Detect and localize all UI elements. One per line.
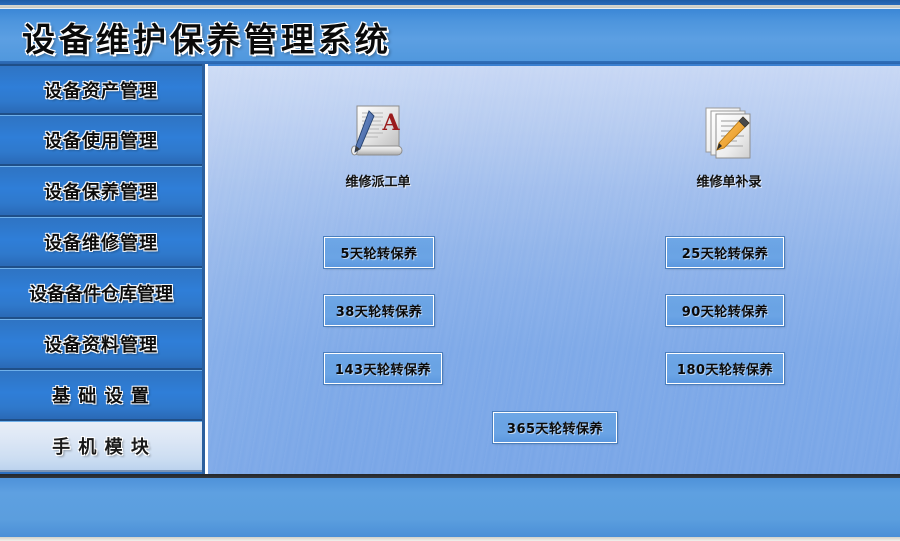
button-rotation-5-days[interactable]: 5天轮转保养 [324, 237, 434, 268]
status-bar-body [0, 478, 900, 537]
sidebar-item-label: 设备备件仓库管理 [29, 280, 173, 306]
sidebar-item-mobile-module[interactable]: 手 机 模 块 [0, 421, 202, 472]
button-label: 365天轮转保养 [507, 418, 603, 437]
window-chrome-bar [0, 0, 900, 8]
svg-text:A: A [381, 110, 400, 136]
main-content-area: A 维修派工单 [208, 64, 900, 474]
icon-tile-repair-form-entry[interactable]: 维修单补录 [669, 99, 789, 190]
content-top-divider [208, 64, 900, 66]
icon-tile-repair-dispatch-order[interactable]: A 维修派工单 [318, 99, 438, 190]
sidebar-item-usage-management[interactable]: 设备使用管理 [0, 115, 202, 166]
sidebar-item-label: 基 础 设 置 [52, 382, 150, 408]
button-label: 90天轮转保养 [682, 301, 769, 320]
status-bar [0, 474, 900, 541]
button-rotation-180-days[interactable]: 180天轮转保养 [666, 353, 784, 384]
button-rotation-25-days[interactable]: 25天轮转保养 [666, 237, 784, 268]
application-window: 设备维护保养管理系统 设备资产管理 设备使用管理 设备保养管理 设备维修管理 设… [0, 0, 900, 541]
documents-pencil-icon [696, 99, 762, 165]
sidebar-item-document-management[interactable]: 设备资料管理 [0, 319, 202, 370]
sidebar-item-maintenance-upkeep[interactable]: 设备保养管理 [0, 166, 202, 217]
button-label: 180天轮转保养 [677, 359, 773, 378]
button-label: 25天轮转保养 [682, 243, 769, 262]
sidebar-item-label: 设备资产管理 [44, 77, 158, 103]
sidebar-item-asset-management[interactable]: 设备资产管理 [0, 64, 202, 115]
button-rotation-38-days[interactable]: 38天轮转保养 [324, 295, 434, 326]
sidebar-item-label: 设备资料管理 [44, 331, 158, 357]
scroll-pen-icon: A [345, 99, 411, 165]
sidebar-nav: 设备资产管理 设备使用管理 设备保养管理 设备维修管理 设备备件仓库管理 设备资… [0, 64, 205, 474]
app-header: 设备维护保养管理系统 [0, 8, 900, 64]
button-rotation-90-days[interactable]: 90天轮转保养 [666, 295, 784, 326]
button-label: 5天轮转保养 [340, 243, 417, 262]
sidebar-item-label: 设备维修管理 [44, 229, 158, 255]
icon-caption: 维修派工单 [318, 171, 438, 190]
sidebar-item-label: 设备保养管理 [44, 178, 158, 204]
sidebar-item-spare-parts-warehouse[interactable]: 设备备件仓库管理 [0, 268, 202, 319]
button-rotation-143-days[interactable]: 143天轮转保养 [324, 353, 442, 384]
icon-caption: 维修单补录 [669, 171, 789, 190]
button-label: 143天轮转保养 [335, 359, 431, 378]
sidebar-item-basic-settings[interactable]: 基 础 设 置 [0, 370, 202, 421]
page-title: 设备维护保养管理系统 [22, 13, 392, 61]
button-label: 38天轮转保养 [336, 301, 423, 320]
button-rotation-365-days[interactable]: 365天轮转保养 [493, 412, 617, 443]
window-chrome-inner [0, 0, 900, 5]
sidebar-item-repair-management[interactable]: 设备维修管理 [0, 217, 202, 268]
sidebar-item-label: 设备使用管理 [44, 127, 158, 153]
window-bottom-edge [0, 537, 900, 541]
app-body: 设备资产管理 设备使用管理 设备保养管理 设备维修管理 设备备件仓库管理 设备资… [0, 64, 900, 474]
sidebar-item-label: 手 机 模 块 [52, 433, 150, 459]
